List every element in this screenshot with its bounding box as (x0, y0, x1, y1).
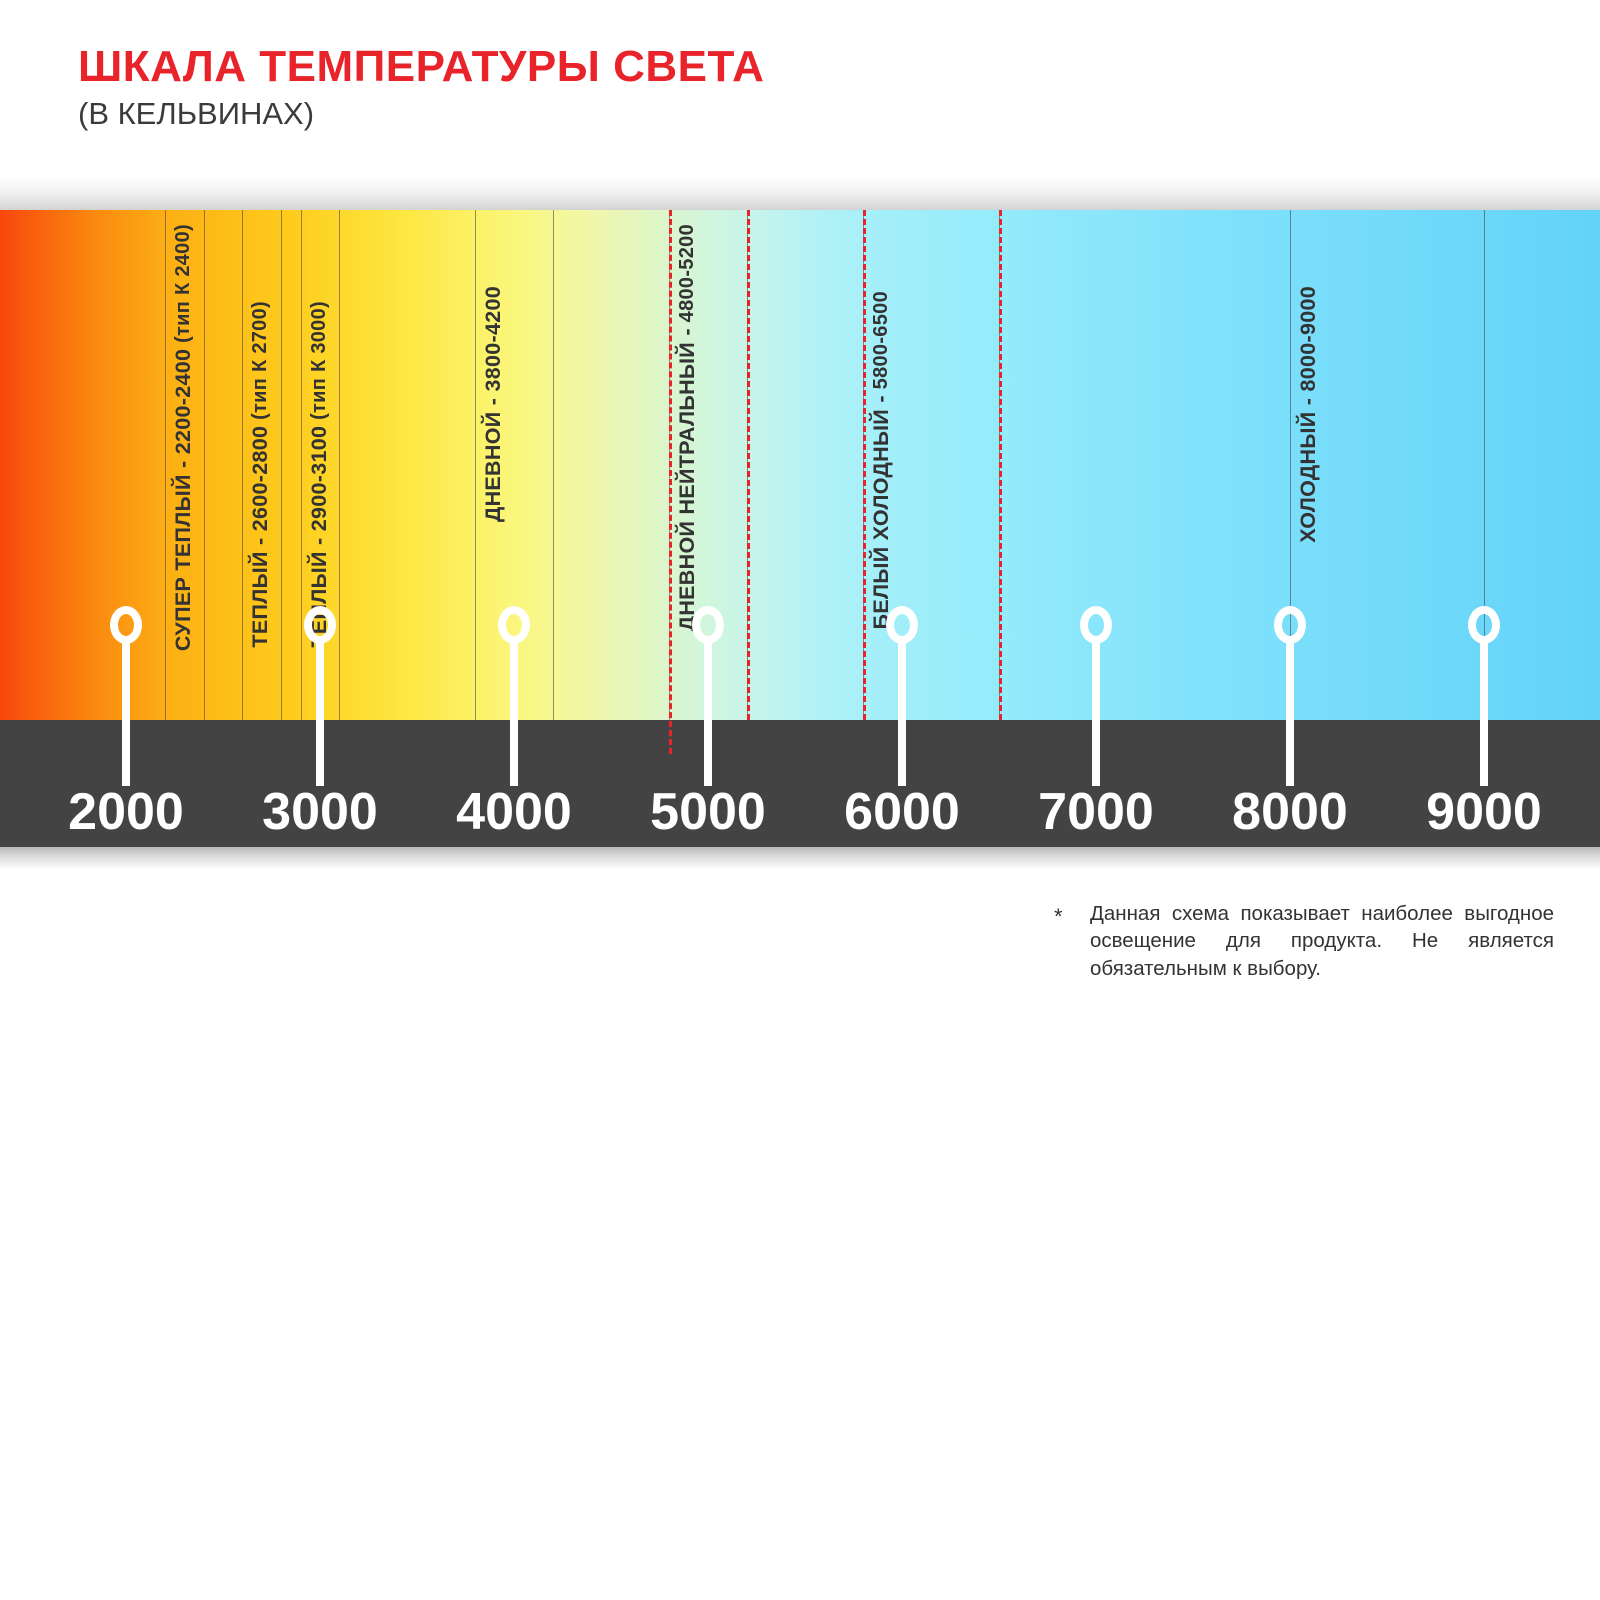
marker-stem (1286, 638, 1294, 786)
band-divider (204, 210, 205, 720)
axis-tick-label: 9000 (1426, 782, 1542, 842)
page-title: ШКАЛА ТЕМПЕРАТУРЫ СВЕТА (78, 42, 764, 92)
band-label-line2: (тип К 2700) (249, 301, 271, 426)
axis-tick-label: 8000 (1232, 782, 1348, 842)
footnote: * Данная схема показывает наиболее выгод… (1054, 900, 1554, 982)
band-label-line2: 4800-5200 (676, 224, 698, 328)
footnote-asterisk: * (1054, 904, 1063, 930)
marker-stem (510, 638, 518, 786)
band-label: ДНЕВНОЙ - 3800-4200 (482, 286, 505, 522)
top-shadow-band (0, 176, 1600, 210)
red-dashed-marker (999, 210, 1002, 720)
band-label: ХОЛОДНЫЙ - 8000-9000 (1297, 286, 1320, 543)
band-label-line1: ТЕПЛЫЙ - 2600-2800 (248, 426, 272, 648)
red-dashed-marker (863, 210, 866, 720)
band-divider (242, 210, 243, 720)
band-label: БЕЛЫЙ ХОЛОДНЫЙ - 5800-6500 (870, 291, 893, 629)
marker-stem (316, 638, 324, 786)
red-dashed-marker (669, 210, 672, 754)
axis-tick-label: 3000 (262, 782, 378, 842)
temperature-scale: СУПЕР ТЕПЛЫЙ - 2200-2400 (тип К 2400)ТЕП… (0, 176, 1600, 866)
band-label-line1: ДНЕВНОЙ - 3800-4200 (481, 286, 505, 522)
footnote-text: Данная схема показывает наиболее выгодно… (1090, 900, 1554, 982)
band-label: СУПЕР ТЕПЛЫЙ - 2200-2400 (тип К 2400) (172, 224, 195, 651)
axis-tick-label: 2000 (68, 782, 184, 842)
band-label-line1: БЕЛЫЙ ХОЛОДНЫЙ - (869, 395, 893, 629)
marker-stem (1092, 638, 1100, 786)
axis-tick-label: 6000 (844, 782, 960, 842)
axis-tick-label: 7000 (1038, 782, 1154, 842)
legend: * Данная схема показывает наиболее выгод… (0, 886, 1600, 1600)
band-divider (301, 210, 302, 720)
marker-stem (704, 638, 712, 786)
axis-tick-label: 5000 (650, 782, 766, 842)
color-gradient-bar (0, 210, 1600, 720)
bottom-shadow-band (0, 847, 1600, 869)
band-label: ТЕПЛЫЙ - 2900-3100 (тип К 3000) (308, 301, 331, 648)
band-label: ДНЕВНОЙ НЕЙТРАЛЬНЫЙ - 4800-5200 (676, 224, 699, 631)
marker-stem (1480, 638, 1488, 786)
red-dashed-marker (747, 210, 750, 720)
header: ШКАЛА ТЕМПЕРАТУРЫ СВЕТА (В КЕЛЬВИНАХ) (0, 0, 1600, 200)
marker-stem (898, 638, 906, 786)
band-label-line2: (тип К 2400) (172, 224, 194, 349)
page-subtitle: (В КЕЛЬВИНАХ) (78, 96, 314, 132)
band-label-line1: СУПЕР ТЕПЛЫЙ - 2200-2400 (171, 349, 195, 651)
band-divider (339, 210, 340, 720)
band-divider (281, 210, 282, 720)
band-label-line1: ХОЛОДНЫЙ - 8000-9000 (1296, 286, 1320, 543)
band-label-line2: 5800-6500 (870, 291, 892, 395)
band-divider (165, 210, 166, 720)
band-label-line2: (тип К 3000) (308, 301, 330, 426)
band-divider (475, 210, 476, 720)
axis-tick-label: 4000 (456, 782, 572, 842)
band-label: ТЕПЛЫЙ - 2600-2800 (тип К 2700) (249, 301, 272, 648)
band-label-line1: ДНЕВНОЙ НЕЙТРАЛЬНЫЙ - (675, 328, 699, 631)
band-divider (553, 210, 554, 720)
marker-stem (122, 638, 130, 786)
axis-dark-bar (0, 720, 1600, 847)
